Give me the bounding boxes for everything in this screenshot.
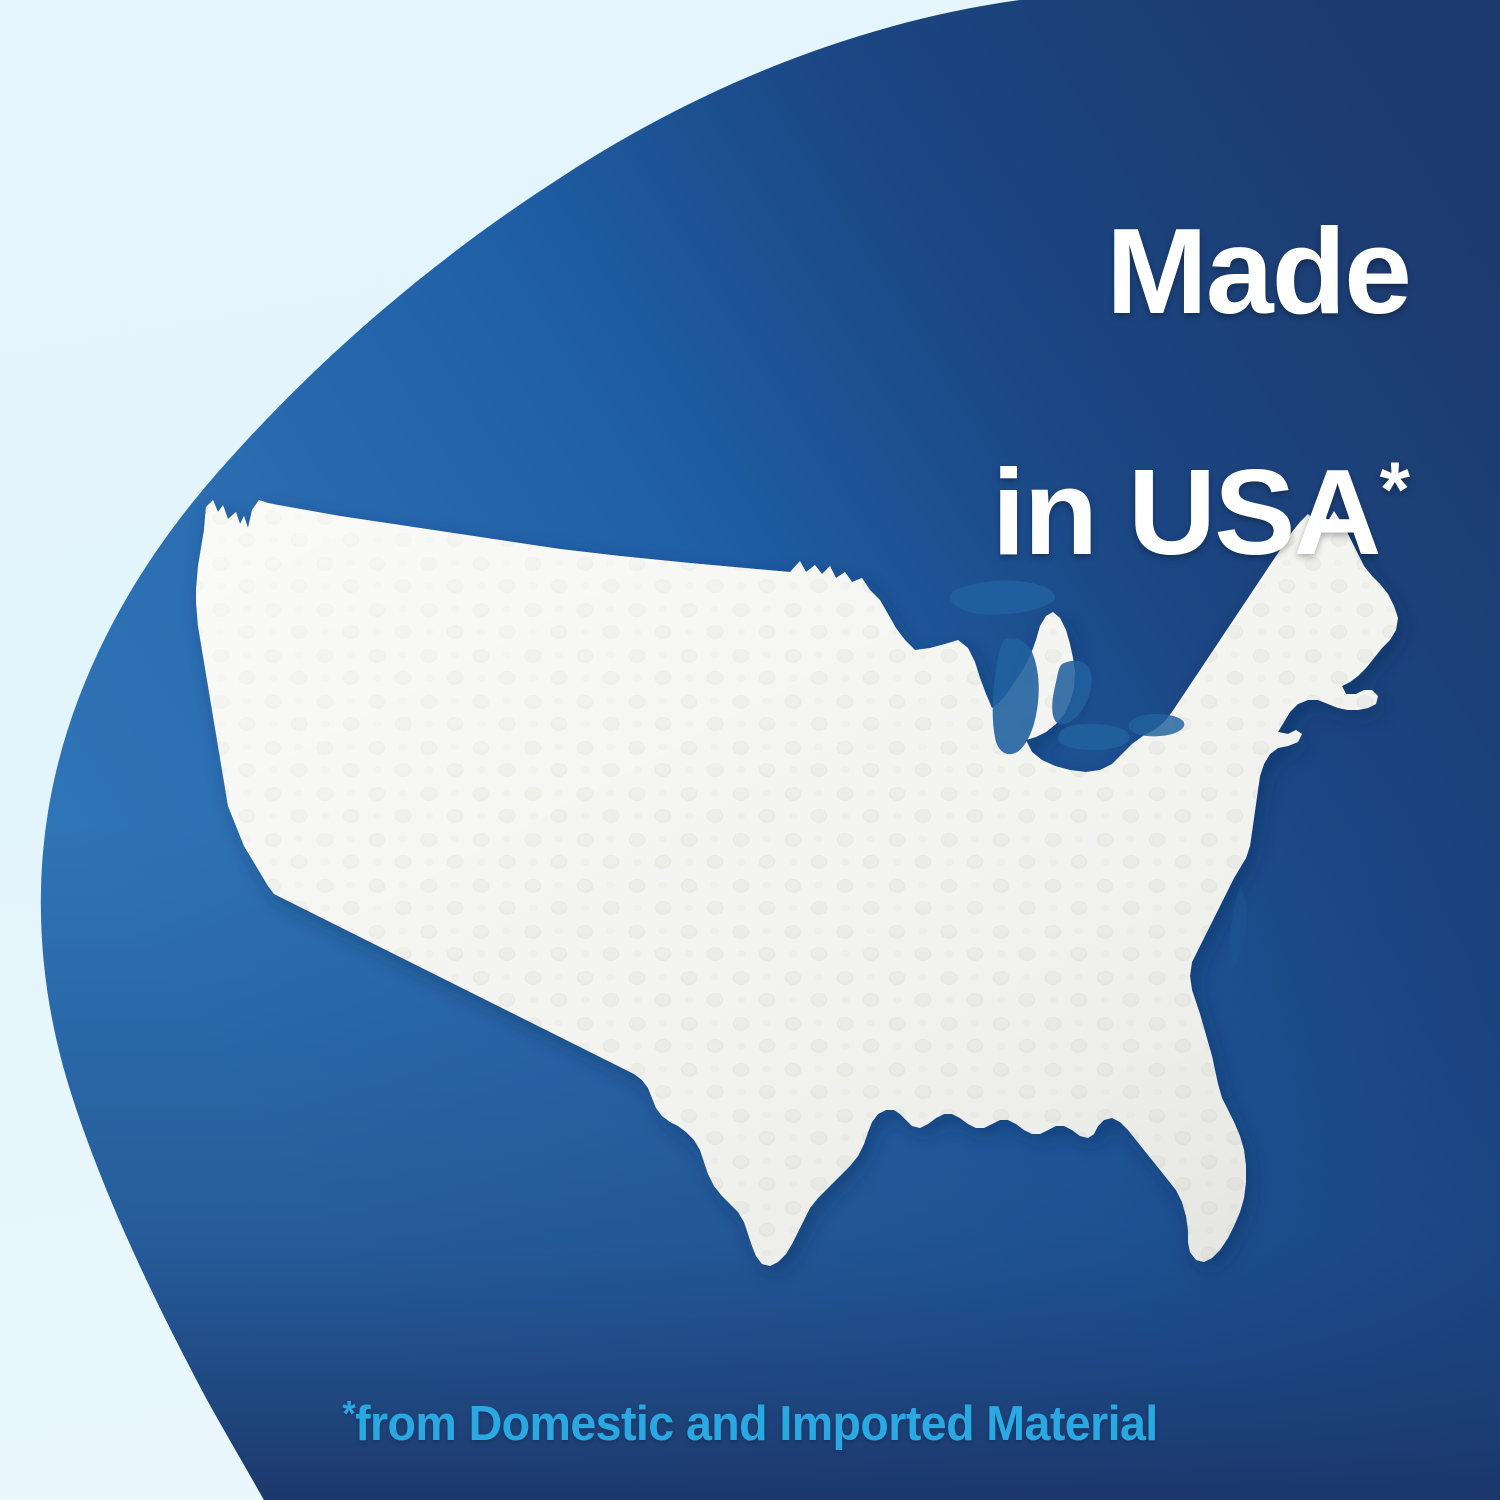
footnote-disclaimer: *from Domestic and Imported Material xyxy=(38,1393,1463,1452)
made-in-usa-graphic: Made in USA* *from Domestic and Imported… xyxy=(0,0,1500,1500)
page-title: Made in USA* xyxy=(730,92,1410,692)
headline-line-2: in USA* xyxy=(730,451,1410,573)
footnote-asterisk: * xyxy=(342,1393,355,1434)
chesapeake-bay xyxy=(1228,886,1247,969)
headline-asterisk: * xyxy=(1380,445,1410,533)
headline-line-1: Made xyxy=(730,212,1410,332)
footnote-text: from Domestic and Imported Material xyxy=(355,1397,1158,1451)
headline-line-2-text: in USA xyxy=(992,444,1380,580)
